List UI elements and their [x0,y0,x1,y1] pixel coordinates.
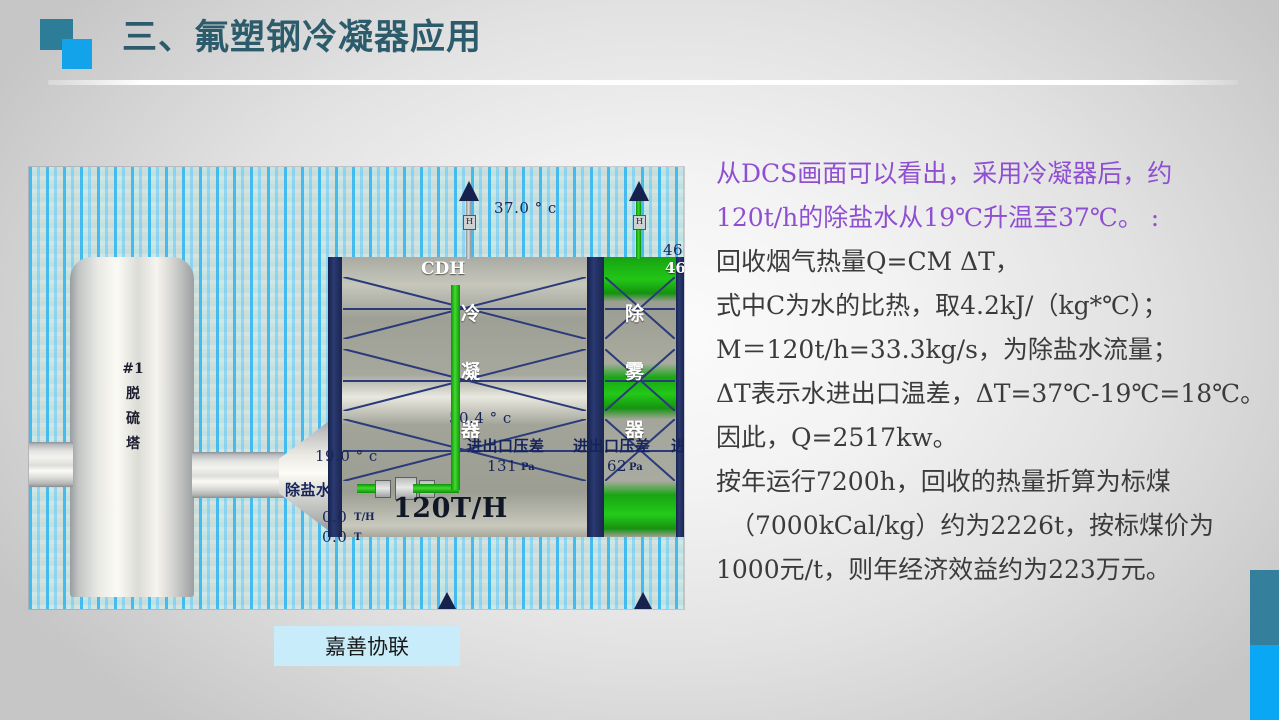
tower-tag: #1 [113,357,153,382]
body-line: 回收烟气热量Q=CM ΔT， [716,240,1246,284]
slide-canvas: 三、氟塑钢冷凝器应用 #1 脱 硫 塔 C [0,0,1279,720]
dp-unit-demister: Pa [629,462,643,473]
bottom-flow-arrow-right-icon [634,592,652,609]
demister-outlet-sensor-icon: H [633,215,646,230]
body-line: 从DCS画面可以看出，采用冷凝器后，约 [716,152,1246,196]
body-line: 1000元/t，则年经济效益约为223万元。 [716,548,1246,592]
demister-label-char-1: 除 [625,285,644,343]
body-text-column: 从DCS画面可以看出，采用冷凝器后，约 120t/h的除盐水从19℃升温至37℃… [716,152,1246,592]
tower-name-char-3: 塔 [113,432,153,457]
demister-outlet-arrow-icon [629,181,649,201]
demister-outlet-temperature: 46.2 ° c [663,241,684,259]
body-line: 按年运行7200h，回收的热量折算为标煤 [716,460,1246,504]
condenser-outlet-sensor-icon: H [463,215,476,230]
image-caption-text: 嘉善协联 [325,631,409,661]
condenser-label-char-1: 冷 [461,285,480,343]
decorative-square-light-icon [62,39,92,69]
title-divider [48,80,1238,85]
tower-name-char-2: 硫 [113,407,153,432]
tower-left-nozzle [29,442,73,487]
bottom-flow-arrow-left-icon [438,592,456,609]
condenser-outlet-temperature: 37.0 ° c [494,199,557,217]
flow-rate-unit: T/H [354,512,375,523]
tower-to-condenser-duct [192,452,284,498]
condenser-label-char-2: 凝 [461,343,480,401]
water-pipe-riser [451,285,460,490]
tower-name-char-1: 脱 [113,382,153,407]
image-caption: 嘉善协联 [274,626,460,666]
dp-label-third-partial: 进 [671,435,684,456]
flow-total-unit: T [354,532,361,543]
desalt-water-label: 除盐水 [285,479,332,500]
flange-middle [587,257,604,537]
water-inlet-temperature: 19.0 ° c [315,447,378,465]
flow-rate-value: 0.0 [322,508,347,526]
page-title: 三、氟塑钢冷凝器应用 [122,13,482,63]
dp-value-demister: 62 [607,457,627,475]
condenser-outlet-arrow-icon [459,181,479,201]
flange-right [676,257,684,537]
body-line: （7000kCal/kg）约为2226t，按标煤价为 [716,504,1246,548]
accent-bar-blue [1250,645,1279,720]
flow-setpoint-value: 120T/H [393,493,508,524]
body-line: 因此，Q=2517kw。 [716,416,1246,460]
cdh-label: CDH [421,259,465,279]
accent-bar-teal [1250,570,1279,645]
body-line: ΔT表示水进出口温差，ΔT=37℃-19℃=18℃。 [716,372,1246,416]
water-valve-flange-left [375,480,391,498]
dcs-screenshot-image: #1 脱 硫 塔 CDH 冷 凝 器 除 雾 器 H 37 [29,167,684,609]
tower-label: #1 脱 硫 塔 [113,357,153,457]
dp-value-condenser: 131 [487,457,517,475]
body-line: M＝120t/h=33.3kg/s，为除盐水流量； [716,328,1246,372]
body-line: 式中C为水的比热，取4.2kJ/（kg*℃）； [716,284,1246,328]
body-line: 120t/h的除盐水从19℃升温至37℃。 : [716,196,1246,240]
dp-label-demister: 进出口压差 [573,435,651,456]
flow-total-value: 0.0 [322,528,347,546]
dp-unit-condenser: Pa [521,462,535,473]
demister-inline-temperature: 46.2 [665,259,684,277]
dp-label-condenser: 进出口压差 [467,435,545,456]
slide-title-bar: 三、氟塑钢冷凝器应用 [0,0,1279,92]
demister-label-char-2: 雾 [625,343,644,401]
